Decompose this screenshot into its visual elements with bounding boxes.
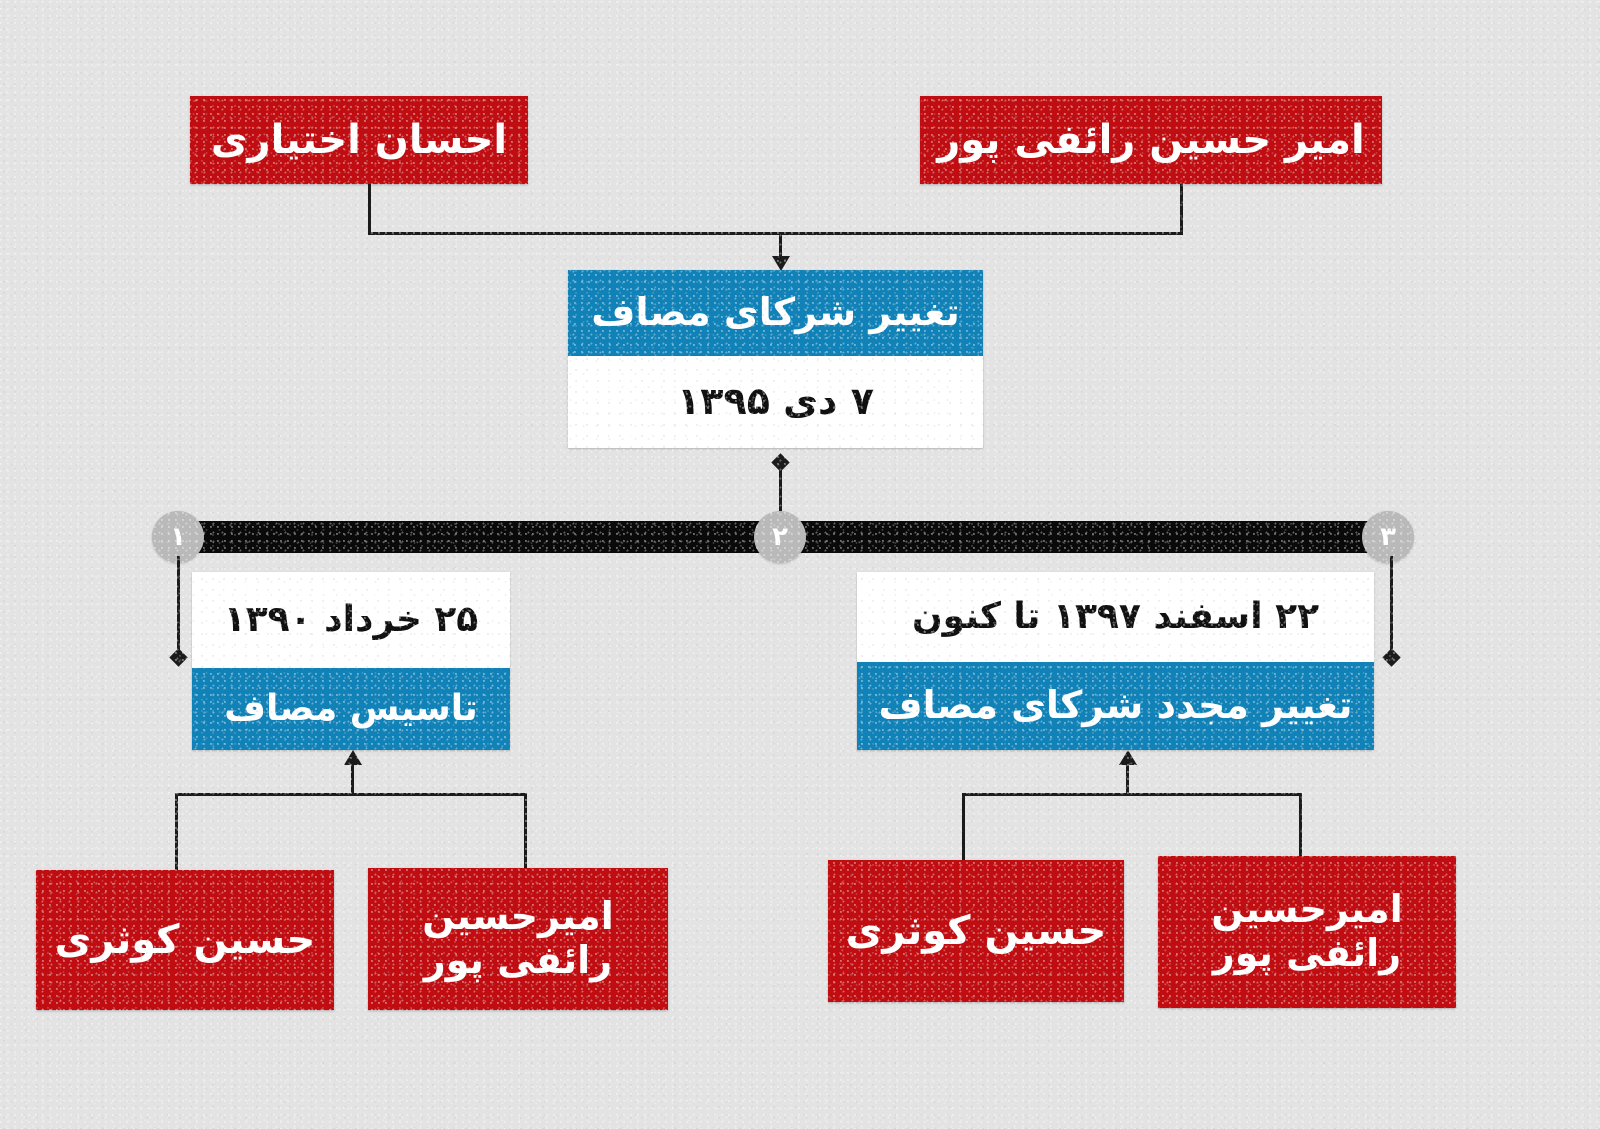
timeline-marker-3-label: ۳ (1380, 522, 1396, 552)
person-box-amirhossein-raefipour-left[interactable]: امیرحسین رائفی پور (368, 868, 668, 1010)
connector-stem-right-event1 (524, 793, 527, 870)
person-name-line-1: امیرحسین (422, 895, 613, 939)
connector-bar-event3 (962, 793, 1302, 796)
event-title-founding[interactable]: تاسیس مصاف (192, 668, 510, 750)
connector-stem-left-event3 (962, 793, 965, 860)
connector-bar-top (368, 232, 1183, 235)
event-title-partner-change-again[interactable]: تغییر مجدد شرکای مصاف (857, 662, 1374, 750)
person-box-amirhossein-raefipour-right[interactable]: امیرحسین رائفی پور (1158, 856, 1456, 1008)
person-name-line-2: رائفی پور (424, 939, 612, 983)
person-name-line-1: امیرحسین (1211, 888, 1402, 932)
person-box-ehsan-ekhtiari[interactable]: احسان اختیاری (190, 96, 528, 184)
connector-diamond-event3 (1382, 648, 1400, 666)
connector-stem-left-top (368, 184, 371, 234)
connector-stem-right-top (1180, 184, 1183, 234)
connector-center-event3 (1126, 762, 1129, 795)
connector-stem-right-event3 (1299, 793, 1302, 860)
connector-bar-event1 (175, 793, 527, 796)
connector-diamond-event2 (771, 453, 789, 471)
timeline-marker-3[interactable]: ۳ (1362, 511, 1414, 563)
connector-timeline-to-event1 (177, 556, 180, 660)
timeline-marker-2-label: ۲ (772, 522, 788, 552)
event-date-partner-change-again: ۲۲ اسفند ۱۳۹۷ تا کنون (857, 572, 1374, 662)
timeline-marker-1-label: ۱ (170, 522, 186, 552)
connector-timeline-to-event3 (1390, 556, 1393, 660)
connector-center-event1 (351, 762, 354, 795)
connector-arrow-into-event2 (772, 256, 790, 271)
person-name-line-2: رائفی پور (1213, 932, 1401, 976)
event-title-partner-change[interactable]: تغییر شرکای مصاف (568, 270, 983, 356)
connector-stem-left-event1 (175, 793, 178, 870)
connector-diamond-event1 (169, 648, 187, 666)
timeline-marker-2[interactable]: ۲ (754, 511, 806, 563)
person-box-hossein-kosari-right[interactable]: حسین کوثری (828, 860, 1124, 1002)
person-box-amirhossein-raefipour-top[interactable]: امیر حسین رائفی پور (920, 96, 1382, 184)
event-date-founding: ۲۵ خرداد ۱۳۹۰ (192, 572, 510, 668)
event-date-partner-change: ۷ دی ۱۳۹۵ (568, 356, 983, 448)
person-box-hossein-kosari-left[interactable]: حسین کوثری (36, 870, 334, 1010)
